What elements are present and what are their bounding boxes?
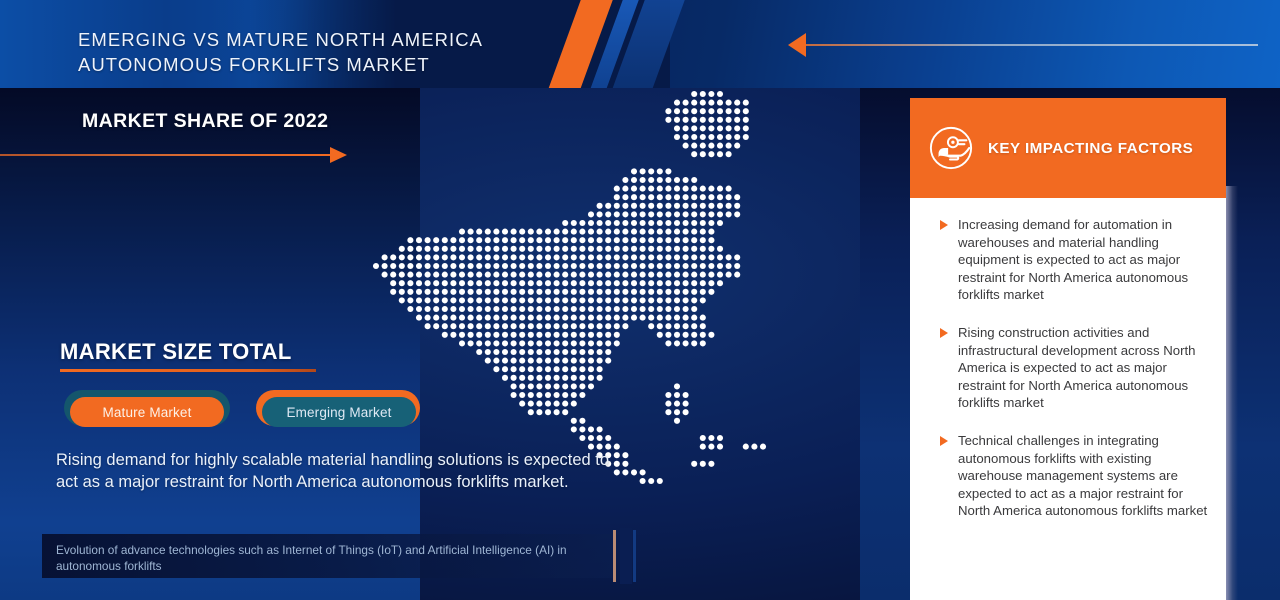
arrow-left-head <box>788 33 806 57</box>
market-share-block: MARKET SHARE OF 2022 <box>0 110 360 162</box>
arrow-right-line <box>0 154 332 156</box>
bottom-divider-bar-left <box>613 530 616 582</box>
triangle-bullet-icon <box>940 220 948 230</box>
arrow-left-line <box>806 44 1258 46</box>
key-factors-panel-title: KEY IMPACTING FACTORS <box>988 140 1193 157</box>
list-item: Increasing demand for automation in ware… <box>928 216 1208 304</box>
market-share-arrow-right-icon <box>0 147 348 163</box>
header-arrow-left-icon <box>788 33 1258 57</box>
hand-holding-gear-icon <box>928 125 974 171</box>
key-factors-panel-shadow <box>1226 186 1238 600</box>
list-item: Technical challenges in integrating auto… <box>928 432 1208 520</box>
factor-text: Increasing demand for automation in ware… <box>958 217 1188 302</box>
arrow-right-head <box>330 147 347 163</box>
legend-pill-emerging-market[interactable]: Emerging Market <box>262 397 416 427</box>
triangle-bullet-icon <box>940 328 948 338</box>
key-factors-panel-body: Increasing demand for automation in ware… <box>910 198 1226 600</box>
factor-text: Technical challenges in integrating auto… <box>958 433 1207 518</box>
legend-pill-mature-market[interactable]: Mature Market <box>70 397 224 427</box>
page-title: EMERGING VS MATURE NORTH AMERICA AUTONOM… <box>78 27 598 77</box>
market-size-underline <box>60 369 316 372</box>
market-share-heading: MARKET SHARE OF 2022 <box>82 110 328 133</box>
market-size-legend: Mature Market Emerging Market <box>60 388 460 436</box>
bottom-note-text: Evolution of advance technologies such a… <box>56 543 602 574</box>
factor-text: Rising construction activities and infra… <box>958 325 1195 410</box>
bottom-divider-bar-right <box>633 530 636 582</box>
triangle-bullet-icon <box>940 436 948 446</box>
bottom-divider-bar-middle <box>620 528 632 584</box>
key-factors-panel-header: KEY IMPACTING FACTORS <box>910 98 1226 198</box>
list-item: Rising construction activities and infra… <box>928 324 1208 412</box>
infographic-canvas: EMERGING VS MATURE NORTH AMERICA AUTONOM… <box>0 0 1280 600</box>
market-size-description: Rising demand for highly scalable materi… <box>56 450 612 493</box>
market-size-heading: MARKET SIZE TOTAL <box>60 339 292 365</box>
